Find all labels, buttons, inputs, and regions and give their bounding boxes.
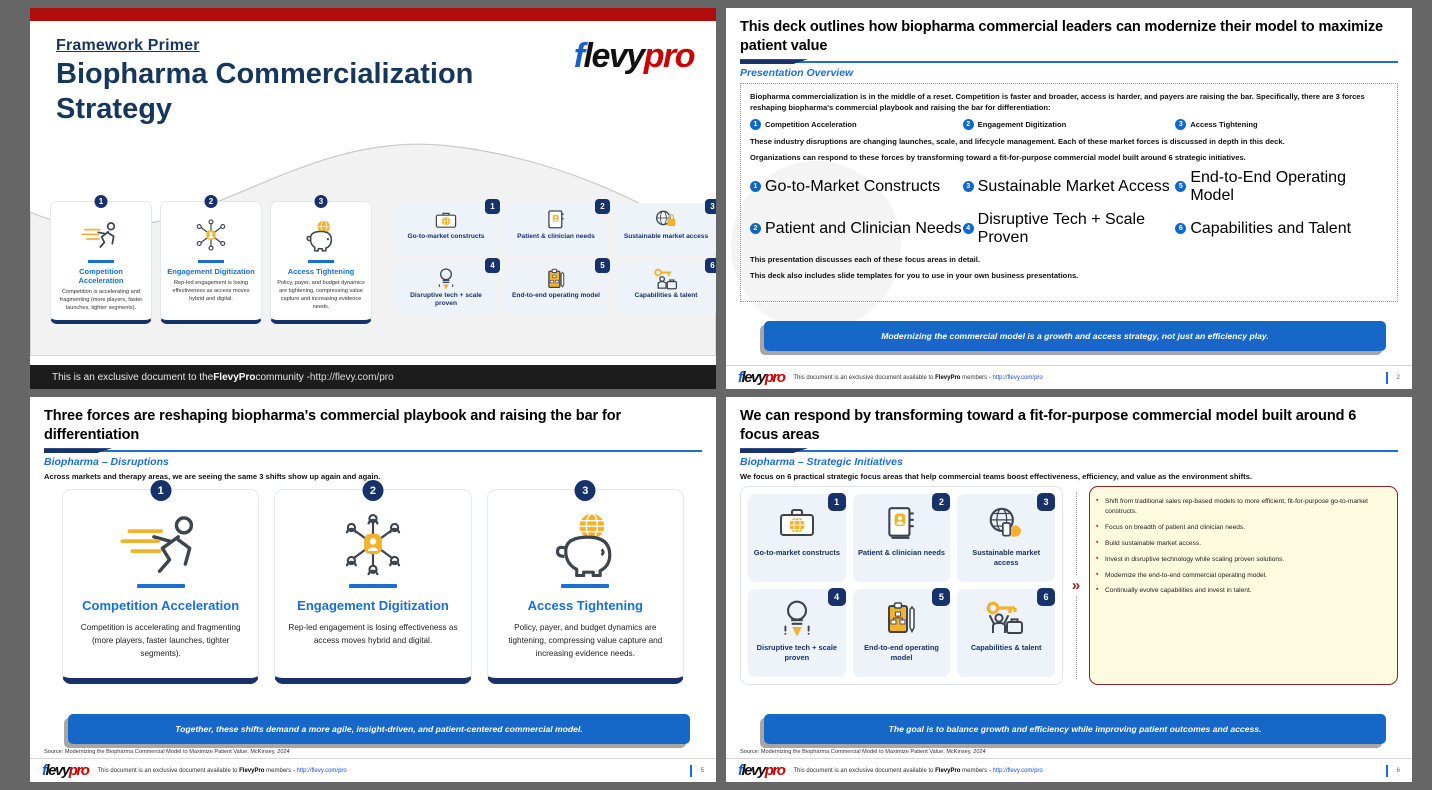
tile-badge: 5 xyxy=(932,588,950,606)
list-item: Invest in disruptive technology while sc… xyxy=(1096,555,1389,565)
tile-label: Disruptive tech + scale proven xyxy=(400,292,492,308)
number-badge: 4 xyxy=(963,223,974,234)
number-badge: 2 xyxy=(750,223,761,234)
briefcase-globe-icon xyxy=(777,501,817,545)
slide-4-footer: flevypro This document is an exclusive d… xyxy=(726,758,1412,782)
page-bar xyxy=(1386,372,1388,384)
globe-lock-icon xyxy=(654,207,678,233)
section-subtitle: Biopharma – Strategic Initiatives xyxy=(740,456,1398,468)
footer-url[interactable]: http://flevy.com/pro xyxy=(297,768,347,774)
initiative-tile[interactable]: 5 End-to-end operating model xyxy=(504,262,608,315)
force-item[interactable]: 1 Competition Acceleration xyxy=(750,119,963,130)
footer-brand: FlevyPro xyxy=(213,372,255,383)
tile-label: Go-to-market constructs xyxy=(408,233,485,241)
source-note: Source: Modernizing the Biopharma Commer… xyxy=(740,749,986,755)
force-title: Competition Acceleration xyxy=(75,598,246,613)
initiative-item[interactable]: 6 Capabilities and Talent xyxy=(1175,211,1388,247)
page-indicator: 2 xyxy=(1386,372,1400,384)
slide-3-footer: flevypro This document is an exclusive d… xyxy=(30,758,716,782)
page-number: 5 xyxy=(701,768,704,774)
list-item: Continually evolve capabilities and inve… xyxy=(1096,586,1389,596)
force-card[interactable]: 1 xyxy=(50,201,152,324)
force-badge: 3 xyxy=(575,480,596,501)
key-message-banner: The goal is to balance growth and effici… xyxy=(764,714,1386,744)
number-badge: 3 xyxy=(963,181,974,192)
footer-text: This document is an exclusive document a… xyxy=(97,768,346,774)
number-badge: 1 xyxy=(750,181,761,192)
card-rule xyxy=(308,260,334,263)
title-red-bar xyxy=(30,8,716,21)
title-rule xyxy=(740,448,1398,453)
forces-row: 1 Competition Acceleration 2 Engagement … xyxy=(750,119,1388,130)
tile-badge: 2 xyxy=(595,199,610,214)
card-rule xyxy=(561,584,609,588)
initiative-item[interactable]: 4 Disruptive Tech + Scale Proven xyxy=(963,211,1176,247)
force-item[interactable]: 2 Engagement Digitization xyxy=(963,119,1176,130)
focus-tile-panel: 1 Go-to-market constructs xyxy=(740,486,1063,685)
clipboard-flow-icon xyxy=(546,266,566,292)
briefcase-globe-icon xyxy=(434,207,458,233)
slide-1-footer: This is an exclusive document to the Fle… xyxy=(30,365,716,389)
force-label: Engagement Digitization xyxy=(978,120,1067,129)
lightbulb-rocket-icon xyxy=(436,266,456,292)
force-card[interactable]: 1 xyxy=(62,489,259,684)
force-label: Competition Acceleration xyxy=(765,120,857,129)
piggy-bank-globe-icon xyxy=(500,510,671,578)
logo-pro: pro xyxy=(644,37,694,75)
tile-badge: 3 xyxy=(1037,493,1055,511)
tile-label: Sustainable market access xyxy=(624,233,708,241)
initiative-tile[interactable]: 3 Sustainable market access xyxy=(614,203,716,256)
lightbulb-rocket-icon xyxy=(781,596,813,640)
logo-levy: levy xyxy=(584,37,644,75)
tile-label: Disruptive tech + scale proven xyxy=(753,643,841,663)
force-title: Access Tightening xyxy=(277,267,365,276)
force-desc: Rep-led engagement is losing effectivene… xyxy=(287,622,458,647)
page-title: Biopharma Commercialization Strategy xyxy=(56,57,536,128)
footer-post: community - xyxy=(255,372,309,383)
person-key-briefcase-icon xyxy=(985,596,1027,640)
tile-badge: 3 xyxy=(705,199,716,214)
slide-2-footer: flevypro This document is an exclusive d… xyxy=(726,365,1412,389)
initiative-label: Go-to-Market Constructs xyxy=(765,178,940,196)
overview-box: Biopharma commercialization is in the mi… xyxy=(740,83,1398,302)
key-message-banner: Modernizing the commercial model is a gr… xyxy=(764,321,1386,351)
slide-3-disruptions[interactable]: Three forces are reshaping biopharma's c… xyxy=(30,397,716,782)
initiative-item[interactable]: 3 Sustainable Market Access xyxy=(963,169,1176,205)
force-card[interactable]: 2 xyxy=(274,489,471,684)
tile-label: Go-to-market constructs xyxy=(754,548,840,558)
list-item: Build sustainable market access. xyxy=(1096,539,1389,549)
takeaway-list: Shift from traditional sales rep-based m… xyxy=(1096,497,1389,596)
tile-label: Patient & clinician needs xyxy=(858,548,945,558)
footer-url[interactable]: http://flevy.com/pro xyxy=(310,372,394,383)
initiative-label: Capabilities and Talent xyxy=(1190,220,1351,238)
overview-para-5: This deck also includes slide templates … xyxy=(750,270,1388,281)
initiative-tile-grid: 1 Go-to-market constructs 2 xyxy=(394,203,716,315)
runner-speed-icon xyxy=(75,510,246,578)
page-number: 2 xyxy=(1397,375,1400,381)
globe-lock-icon xyxy=(986,501,1026,545)
initiative-tile[interactable]: 1 Go-to-market constructs xyxy=(394,203,498,256)
title-rule xyxy=(44,448,702,453)
page-bar xyxy=(1386,765,1388,777)
force-title: Competition Acceleration xyxy=(57,267,145,285)
footer-pre: This is an exclusive document to the xyxy=(52,372,213,383)
footer-url[interactable]: http://flevy.com/pro xyxy=(993,768,1043,774)
focus-areas-section: 1 Go-to-market constructs xyxy=(740,486,1398,685)
force-desc: Policy, payer, and budget dynamics are t… xyxy=(500,622,671,660)
tile-badge: 6 xyxy=(705,258,716,273)
number-badge: 6 xyxy=(1175,223,1186,234)
slide-4-strategic-initiatives[interactable]: We can respond by transforming toward a … xyxy=(726,397,1412,782)
flevypro-logo: flevypro xyxy=(738,370,784,385)
initiative-label: End-to-End Operating Model xyxy=(1190,169,1388,205)
page-indicator: 5 xyxy=(690,765,704,777)
force-title: Engagement Digitization xyxy=(167,267,255,276)
tile-badge: 1 xyxy=(828,493,846,511)
focus-tile[interactable]: 1 Go-to-market constructs xyxy=(748,494,846,582)
force-item[interactable]: 3 Access Tightening xyxy=(1175,119,1388,130)
force-title: Engagement Digitization xyxy=(287,598,458,613)
page-bar xyxy=(690,765,692,777)
overview-intro: Biopharma commercialization is in the mi… xyxy=(750,91,1388,114)
overview-para-2: These industry disruptions are changing … xyxy=(750,136,1388,147)
focus-tile[interactable]: 2 xyxy=(853,494,951,582)
initiative-label: Sustainable Market Access xyxy=(978,178,1170,196)
focus-tile[interactable]: 6 xyxy=(957,589,1055,677)
piggy-bank-globe-icon xyxy=(277,215,365,255)
overview-para-4: This presentation discusses each of thes… xyxy=(750,254,1388,265)
footer-url[interactable]: http://flevy.com/pro xyxy=(993,375,1043,381)
force-badge: 2 xyxy=(205,195,218,208)
section-subtitle: Presentation Overview xyxy=(740,67,1398,79)
overview-para-3: Organizations can respond to these force… xyxy=(750,152,1388,163)
footer-text: This document is an exclusive document a… xyxy=(793,375,1042,381)
tile-label: Capabilities & talent xyxy=(971,643,1042,653)
card-rule xyxy=(198,260,224,263)
tile-label: Capabilities & talent xyxy=(634,292,697,300)
tile-label: Patient & clinician needs xyxy=(517,233,595,241)
framework-kicker: Framework Primer xyxy=(56,37,200,55)
force-label: Access Tightening xyxy=(1190,120,1257,129)
focus-tile[interactable]: 5 xyxy=(853,589,951,677)
page-title: Three forces are reshaping biopharma's c… xyxy=(44,407,702,444)
slide-thumbnail-grid: Framework Primer Biopharma Commercializa… xyxy=(0,0,1432,790)
patient-book-icon xyxy=(886,501,916,545)
force-badge: 2 xyxy=(362,480,383,501)
network-people-icon xyxy=(287,510,458,578)
tile-badge: 2 xyxy=(932,493,950,511)
tile-badge: 1 xyxy=(485,199,500,214)
force-badge: 3 xyxy=(315,195,328,208)
slide-1-title[interactable]: Framework Primer Biopharma Commercializa… xyxy=(30,8,716,389)
page-title: We can respond by transforming toward a … xyxy=(740,407,1398,444)
focus-tile-grid: 1 Go-to-market constructs xyxy=(748,494,1055,677)
force-desc: Competition is accelerating and fragment… xyxy=(75,622,246,660)
tile-label: End-to-end operating model xyxy=(512,292,600,300)
source-note: Source: Modernizing the Biopharma Commer… xyxy=(44,749,290,755)
tile-label: Sustainable market access xyxy=(962,548,1050,568)
force-card[interactable]: 3 Acces xyxy=(487,489,684,684)
initiatives-grid: 1 Go-to-Market Constructs 3 Sustainable … xyxy=(750,169,1388,247)
patient-book-icon xyxy=(547,207,565,233)
number-badge: 3 xyxy=(1175,119,1186,130)
flevypro-logo: flevypro xyxy=(738,763,784,778)
tile-badge: 5 xyxy=(595,258,610,273)
initiative-tile[interactable]: 4 Disruptive tech + scale proven xyxy=(394,262,498,315)
force-desc: Rep-led engagement is losing effectivene… xyxy=(167,279,255,303)
initiative-tile[interactable]: 2 Patient & clinician needs xyxy=(504,203,608,256)
number-badge: 5 xyxy=(1175,181,1186,192)
slide-2-overview[interactable]: This deck outlines how biopharma commerc… xyxy=(726,8,1412,389)
force-desc: Policy, payer, and budget dynamics are t… xyxy=(277,279,365,311)
force-card[interactable]: 2 xyxy=(160,201,262,324)
footer-text: This document is an exclusive document a… xyxy=(793,768,1042,774)
focus-tile[interactable]: 3 xyxy=(957,494,1055,582)
force-badge: 1 xyxy=(150,480,171,501)
focus-tile[interactable]: 4 xyxy=(748,589,846,677)
force-desc: Competition is accelerating and fragment… xyxy=(57,288,145,312)
flow-divider: » xyxy=(1063,486,1089,685)
page-indicator: 6 xyxy=(1386,765,1400,777)
tile-label: End-to-end operating model xyxy=(858,643,946,663)
initiative-item[interactable]: 5 End-to-End Operating Model xyxy=(1175,169,1388,205)
force-title: Access Tightening xyxy=(500,598,671,613)
initiative-item[interactable]: 2 Patient and Clinician Needs xyxy=(750,211,963,247)
tile-badge: 4 xyxy=(485,258,500,273)
takeaway-panel: Shift from traditional sales rep-based m… xyxy=(1089,486,1398,685)
initiative-item[interactable]: 1 Go-to-Market Constructs xyxy=(750,169,963,205)
title-rule xyxy=(740,59,1398,64)
initiative-label: Disruptive Tech + Scale Proven xyxy=(978,211,1176,247)
number-badge: 1 xyxy=(750,119,761,130)
clipboard-flow-icon xyxy=(885,596,917,640)
runner-speed-icon xyxy=(57,215,145,255)
key-message-banner: Together, these shifts demand a more agi… xyxy=(68,714,690,744)
force-card-group: 1 xyxy=(44,489,702,684)
page-number: 6 xyxy=(1397,768,1400,774)
section-subtitle: Biopharma – Disruptions xyxy=(44,456,702,468)
list-item: Shift from traditional sales rep-based m… xyxy=(1096,497,1389,517)
list-item: Modernize the end-to-end commercial oper… xyxy=(1096,571,1389,581)
person-key-briefcase-icon xyxy=(653,266,679,292)
card-rule xyxy=(88,260,114,263)
network-people-icon xyxy=(167,215,255,255)
page-title: This deck outlines how biopharma commerc… xyxy=(740,18,1398,55)
flevypro-logo: flevypro xyxy=(42,763,88,778)
tile-badge: 4 xyxy=(828,588,846,606)
card-rule xyxy=(137,584,185,588)
chevron-right-icon: » xyxy=(1072,575,1080,596)
logo-f: f xyxy=(574,37,584,75)
card-rule xyxy=(349,584,397,588)
flevypro-logo: flevypro xyxy=(574,39,694,73)
initiative-tile[interactable]: 6 Capabilities & talent xyxy=(614,262,716,315)
force-badge: 1 xyxy=(95,195,108,208)
number-badge: 2 xyxy=(963,119,974,130)
slide-1-body: Framework Primer Biopharma Commercializa… xyxy=(30,21,716,365)
force-card[interactable]: 3 Access Tightening xyxy=(270,201,372,324)
list-item: Focus on breadth of patient and clinicia… xyxy=(1096,523,1389,533)
tile-badge: 6 xyxy=(1037,588,1055,606)
lead-text: We focus on 6 practical strategic focus … xyxy=(740,472,1398,481)
initiative-label: Patient and Clinician Needs xyxy=(765,220,962,238)
force-card-group: 1 xyxy=(50,201,372,324)
